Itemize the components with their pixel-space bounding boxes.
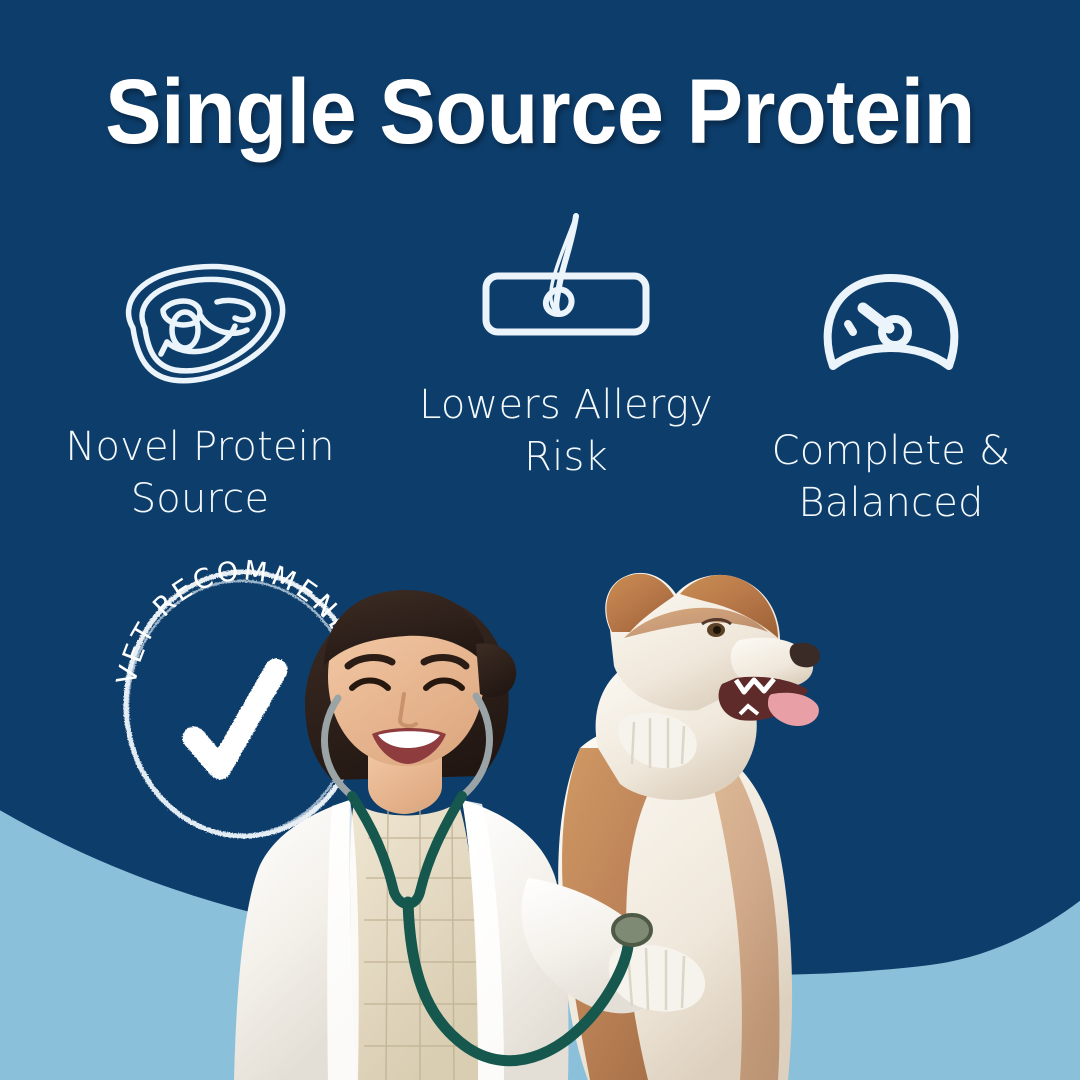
hair-follicle-icon [388,208,744,353]
feature-label: Lowers Allergy Risk [388,379,744,483]
steak-icon [30,258,370,393]
feature-complete-and-balanced: Complete & Balanced [718,262,1064,529]
feature-label: Novel Protein Source [30,421,370,525]
poster-canvas: Single Source Protein Novel Protein Sour… [0,0,1080,1080]
feature-novel-protein-source: Novel Protein Source [30,258,370,525]
feature-lowers-allergy-risk: Lowers Allergy Risk [388,208,744,483]
page-title: Single Source Protein [43,66,1037,158]
feature-label: Complete & Balanced [718,425,1064,529]
gauge-icon [718,262,1064,397]
photo-illustration [228,548,848,1080]
vet-and-dog-photo: Veterinarian in white coat with green st… [228,548,848,1080]
